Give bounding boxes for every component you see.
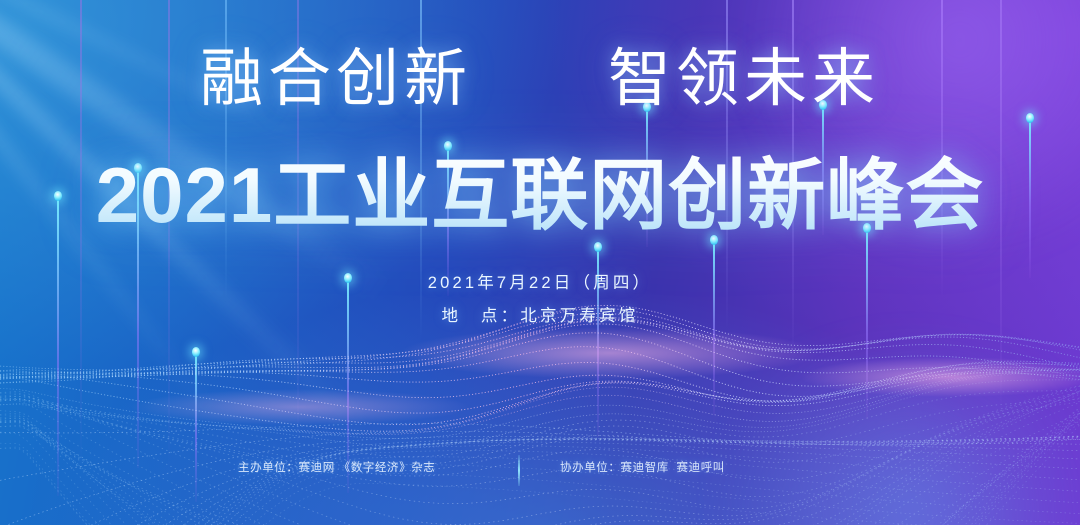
page-headline: 融合创新 智领未来	[0, 28, 1080, 119]
footer: 主办单位：赛迪网 《数字经济》杂志 协办单位：赛迪智库 赛迪呼叫	[0, 459, 1080, 485]
event-location: 地 点：北京万寿宾馆	[0, 302, 1080, 326]
event-date: 2021年7月22日（周四）	[0, 269, 1080, 293]
event-poster-banner: 融合创新 智领未来 2021工业互联网创新峰会 2021年7月22日（周四） 地…	[0, 0, 1080, 525]
coorganizer-text: 协办单位：赛迪智库 赛迪呼叫	[560, 459, 725, 475]
organizer-text: 主办单位：赛迪网 《数字经济》杂志	[238, 459, 435, 475]
page-title: 2021工业互联网创新峰会	[0, 133, 1080, 245]
footer-divider	[518, 455, 520, 486]
